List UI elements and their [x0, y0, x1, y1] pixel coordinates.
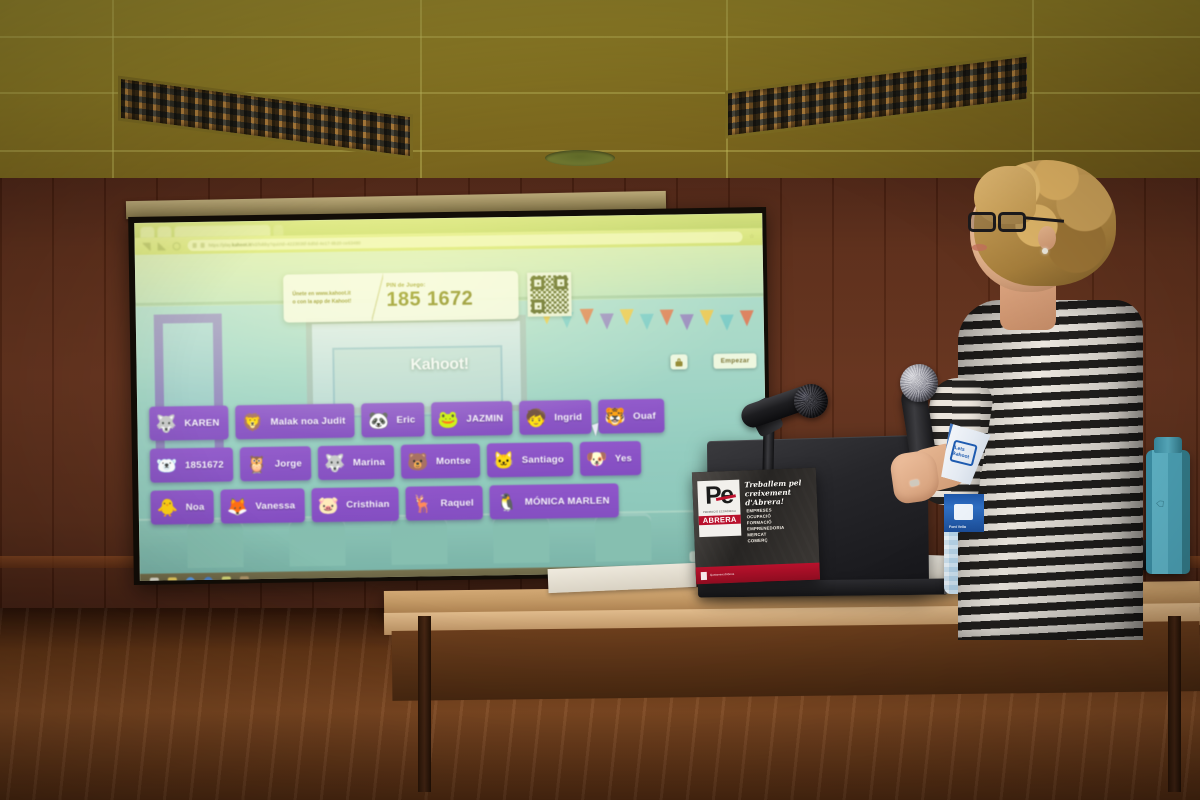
scene-root: https://play.kahoot.it/v2/lobby?quizId=4… — [0, 0, 1200, 800]
player-avatar-icon: 🐻‍❄️ — [154, 452, 180, 478]
player-avatar-icon: 🐺 — [322, 450, 348, 476]
ceiling-light-fixture — [725, 53, 1030, 138]
player-name: 1851672 — [185, 459, 224, 471]
bottle-label-text: Font Vella — [946, 522, 984, 532]
player-name: KAREN — [184, 417, 219, 429]
player-name: Marina — [353, 457, 385, 469]
table-leg — [418, 616, 431, 792]
kahoot-lobby-page: Kahoot! Únete en www.kahoot.it o con la … — [135, 245, 768, 581]
bottle-label: Font Vella — [944, 494, 984, 532]
player-name: Cristhian — [346, 498, 390, 510]
player-card: 🐷 Cristhian — [311, 487, 399, 522]
sign-headline: Treballem pel creixement d'Abrera! — [744, 478, 813, 508]
join-instructions: Únete en www.kahoot.it o con la app de K… — [283, 289, 371, 307]
player-list: 🐺 KAREN 🦁 Malak noa Judit 🐼 Eric — [149, 397, 763, 533]
earring — [1042, 248, 1048, 254]
player-avatar-icon: 🐥 — [155, 494, 181, 520]
lock-icon — [201, 243, 205, 248]
abrera-logo: Pe PROMOCIÓ ECONÒMICA ABRERA — [697, 480, 741, 538]
player-name: JAZMIN — [466, 413, 503, 425]
folder-icon[interactable] — [168, 577, 177, 581]
player-name: Jorge — [275, 458, 302, 469]
player-name: Santiago — [522, 454, 564, 466]
striped-top — [958, 300, 1143, 640]
sign-footer-text: Ajuntament d'Abrera — [710, 573, 735, 577]
player-avatar-icon: 🐺 — [153, 410, 179, 436]
ceiling-light-fixture — [118, 76, 413, 160]
municipal-crest-icon — [701, 571, 707, 579]
player-card: 🐸 JAZMIN — [431, 401, 512, 436]
player-name: Eric — [396, 414, 415, 425]
pin-code: 185 1672 — [386, 288, 518, 311]
player-avatar-icon: 🐷 — [315, 492, 341, 518]
player-avatar-icon: 🦊 — [224, 493, 250, 519]
bottle-logo: ⌂ — [1151, 499, 1167, 508]
player-avatar-icon: 🐯 — [602, 403, 628, 429]
eyeglasses — [968, 212, 1032, 234]
player-card: 🦁 Malak noa Judit — [235, 404, 354, 440]
player-row: 🐥 Noa 🦊 Vanessa 🐷 Cristhian — [150, 481, 762, 525]
player-avatar-icon: 🐻 — [405, 448, 431, 474]
edge-icon[interactable] — [204, 577, 213, 581]
game-pin-banner: Únete en www.kahoot.it o con la app de K… — [283, 271, 519, 323]
app-icon[interactable] — [240, 576, 249, 581]
player-card: 🦌 Raquel — [405, 486, 483, 521]
mail-icon[interactable] — [222, 576, 231, 580]
player-name: Ouaf — [633, 410, 656, 421]
ceiling-vent — [545, 150, 615, 166]
bottle-cap — [1154, 437, 1182, 453]
player-card: 🦊 Vanessa — [220, 488, 304, 523]
lips — [972, 244, 987, 251]
star-icon[interactable]: ☆ — [749, 233, 754, 240]
player-name: Yes — [615, 453, 632, 464]
player-card: 🐺 Marina — [318, 445, 395, 480]
player-avatar-icon: 🧒 — [523, 404, 549, 430]
player-card: 🐺 KAREN — [149, 405, 229, 440]
kahoot-logo: Kahoot! — [410, 356, 469, 375]
player-avatar-icon: 🐼 — [365, 407, 391, 433]
logo-town: ABRERA — [699, 515, 741, 526]
lock-icon[interactable] — [670, 354, 687, 369]
player-name: Raquel — [441, 497, 474, 509]
player-avatar-icon: 🐱 — [491, 447, 517, 473]
start-icon[interactable] — [150, 578, 159, 581]
player-avatar-icon: 🐧 — [494, 489, 520, 515]
player-avatar-icon: 🦉 — [244, 451, 270, 477]
join-line-2: o con la app de Kahoot! — [292, 297, 371, 306]
insulated-bottle: ⌂ — [1146, 450, 1190, 574]
forward-arrow-icon[interactable] — [158, 242, 166, 250]
cup-brand-text: Lets kahoot — [949, 440, 978, 467]
player-avatar-icon: 🦁 — [239, 409, 265, 435]
banner-divider — [371, 273, 384, 321]
player-card: 🐥 Noa — [150, 490, 213, 525]
headline-line-2: creixement d'Abrera! — [745, 487, 814, 508]
logo-subtitle: PROMOCIÓ ECONÒMICA — [703, 510, 736, 514]
player-card: 🐶 Yes — [580, 441, 642, 476]
projection-screen: https://play.kahoot.it/v2/lobby?quizId=4… — [134, 213, 768, 581]
projection-screen-frame: https://play.kahoot.it/v2/lobby?quizId=4… — [128, 207, 772, 585]
back-arrow-icon[interactable] — [143, 242, 151, 250]
start-button[interactable]: Empezar — [714, 353, 757, 369]
chrome-icon[interactable] — [186, 577, 195, 581]
player-name: Ingrid — [554, 411, 582, 422]
player-avatar-icon: 🦌 — [409, 490, 435, 516]
player-name: Noa — [186, 501, 205, 512]
reload-icon[interactable] — [173, 242, 181, 250]
sign-service-list: EMPRESES OCUPACIÓ FORMACIÓ EMPRENEDORIA … — [746, 507, 785, 545]
url-text: https://play.kahoot.it/v2/lobby?quizId=4… — [209, 240, 361, 247]
ear — [1038, 226, 1056, 250]
table-leg — [1168, 616, 1181, 792]
player-name: MÓNICA MARLEN — [525, 495, 610, 507]
player-card: 🐼 Eric — [361, 402, 424, 437]
player-avatar-icon: 🐶 — [584, 445, 610, 471]
player-card: 🐱 Santiago — [487, 442, 574, 477]
shield-icon — [193, 243, 197, 248]
player-row: 🐻‍❄️ 1851672 🦉 Jorge 🐺 Marina — [150, 439, 762, 483]
player-card: 🐧 MÓNICA MARLEN — [490, 483, 619, 519]
qr-code[interactable] — [527, 272, 572, 317]
player-card: 🐯 Ouaf — [598, 399, 665, 434]
player-card: 🦉 Jorge — [240, 446, 312, 481]
player-avatar-icon: 🐸 — [435, 406, 461, 432]
player-card: 🐻‍❄️ 1851672 — [150, 447, 233, 482]
presenter — [888, 160, 1138, 630]
logo-mark: Pe — [705, 483, 734, 509]
ceiling — [0, 0, 1200, 185]
player-name: Vanessa — [255, 500, 295, 512]
player-card: 🧒 Ingrid — [519, 400, 591, 435]
player-name: Malak noa Judit — [270, 415, 345, 427]
player-card: 🐻 Montse — [401, 444, 480, 479]
player-name: Montse — [436, 455, 471, 467]
abrera-promotional-sign: Pe PROMOCIÓ ECONÒMICA ABRERA Treballem p… — [692, 468, 820, 585]
